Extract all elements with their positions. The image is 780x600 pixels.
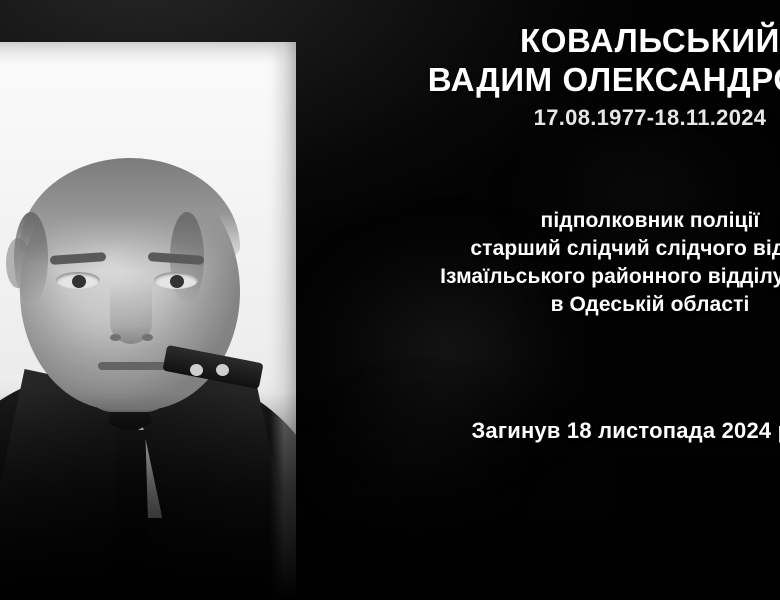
portrait-mouth [98, 362, 168, 370]
portrait-pupil-left [72, 275, 86, 288]
rank-block: підполковник поліції старший слідчий слі… [300, 207, 780, 319]
portrait-nostril-left [110, 334, 121, 341]
portrait-pupil-right [170, 275, 184, 288]
portrait-hair-side-left [14, 212, 48, 304]
surname: КОВАЛЬСЬКИЙ [300, 22, 780, 61]
rank-line-2: старший слідчий слідчого відділу [300, 235, 780, 263]
portrait-tie [110, 430, 152, 600]
rank-line-4: в Одеській області [300, 291, 780, 319]
death-notice-block: Загинув 18 листопада 2024 року [300, 418, 780, 444]
life-dates: 17.08.1977-18.11.2024 [300, 105, 780, 131]
given-names: ВАДИМ ОЛЕКСАНДРОВИЧ [300, 61, 780, 100]
death-notice: Загинув 18 листопада 2024 року [300, 418, 780, 444]
rank-line-1: підполковник поліції [300, 207, 780, 235]
name-block: КОВАЛЬСЬКИЙ ВАДИМ ОЛЕКСАНДРОВИЧ 17.08.19… [300, 22, 780, 131]
portrait-hair [20, 158, 240, 270]
rank-line-3: Ізмаїльського районного відділу поліції [300, 263, 780, 291]
portrait-nostril-right [142, 334, 153, 341]
portrait-frame [0, 42, 296, 600]
memorial-card: КОВАЛЬСЬКИЙ ВАДИМ ОЛЕКСАНДРОВИЧ 17.08.19… [0, 0, 780, 600]
portrait-photo [0, 42, 296, 600]
